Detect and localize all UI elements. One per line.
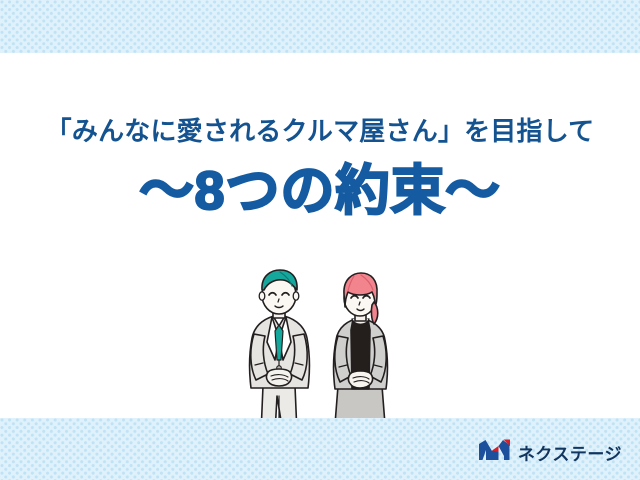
top-dot-band [0,0,640,53]
nexstage-n-logo-icon [478,439,511,466]
male-staff-figure [250,270,310,433]
headline-subtitle: 「みんなに愛されるクルマ屋さん」を目指して [0,118,640,144]
brand-wordmark: ネクステージ [518,440,622,465]
promo-banner: 「みんなに愛されるクルマ屋さん」を目指して 〜8つの約束〜 [0,0,640,480]
two-staff-bowing-illustration [228,268,418,433]
brand-logo: ネクステージ [478,439,622,466]
headline-block: 「みんなに愛されるクルマ屋さん」を目指して 〜8つの約束〜 [0,118,640,218]
female-staff-figure [334,273,388,433]
headline-title: 〜8つの約束〜 [0,164,640,218]
